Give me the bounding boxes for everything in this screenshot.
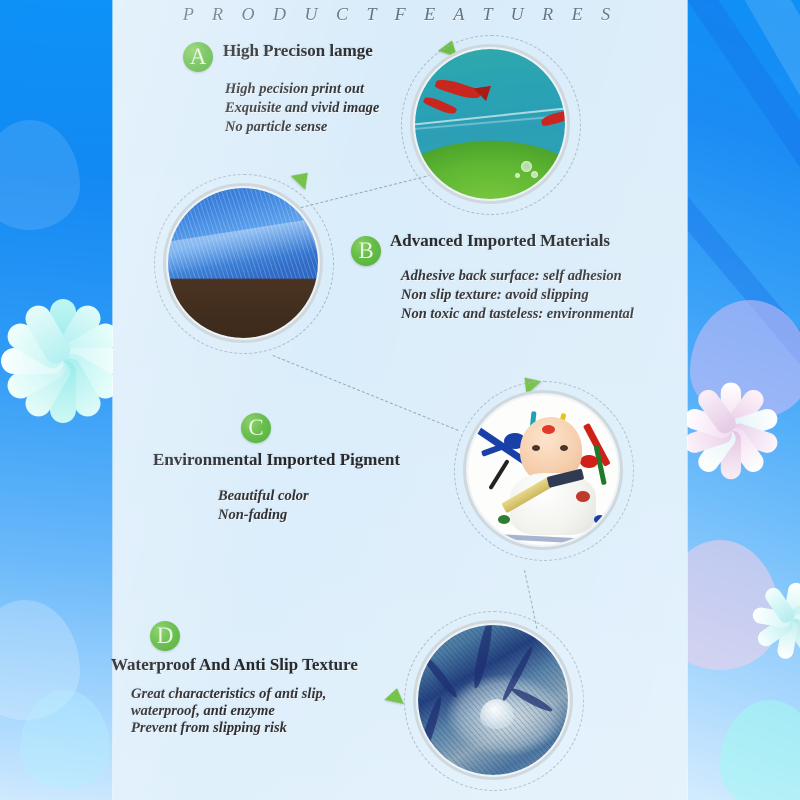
body-a-line-1: High pecision print out [225, 80, 364, 99]
badge-c: C [241, 413, 271, 443]
connector-b-to-c [273, 355, 459, 431]
decorative-blob-left-3 [0, 120, 80, 230]
photo-a-fish-print [410, 44, 570, 204]
product-features-poster: P R O D U C T F E A T U R E S A High Pre… [0, 0, 800, 800]
body-b-line-1: Adhesive back surface: self adhesion [401, 267, 622, 286]
arrow-to-photo-b [291, 166, 315, 190]
photo-a-image [415, 49, 565, 199]
photo-d-image [418, 625, 568, 775]
body-a-line-2: Exquisite and vivid image [225, 99, 379, 118]
decorative-flower-right-lower [790, 620, 791, 621]
blue-fabric-texture-photo [168, 188, 318, 338]
badge-d: D [150, 621, 180, 651]
body-a-line-3: No particle sense [225, 118, 327, 137]
decorative-flower-right-upper [730, 430, 731, 431]
heading-c: Environmental Imported Pigment [153, 450, 400, 470]
decorative-blob-left-2 [20, 690, 110, 790]
content-panel: P R O D U C T F E A T U R E S A High Pre… [113, 0, 687, 800]
body-b-line-2: Non slip texture: avoid slipping [401, 286, 589, 305]
background-right-strip [670, 0, 800, 800]
photo-c-baby-painting [463, 390, 623, 550]
body-d-line-3: Prevent from slipping risk [131, 719, 287, 738]
photo-b-image [168, 188, 318, 338]
heading-b: Advanced Imported Materials [390, 231, 610, 251]
baby-painting-photo [468, 395, 618, 545]
body-c-line-2: Non-fading [218, 506, 287, 525]
water-droplet [480, 699, 514, 729]
page-title: P R O D U C T F E A T U R E S [113, 4, 687, 25]
fish-shape-2 [423, 94, 458, 116]
badge-a: A [183, 42, 213, 72]
badge-b: B [351, 236, 381, 266]
fish-shape-3 [540, 109, 565, 126]
decorative-blob-right-3 [720, 700, 800, 800]
background-left-strip [0, 0, 130, 800]
fabric-highlight [168, 216, 318, 277]
heading-a: High Precison lamge [223, 41, 373, 61]
photo-d-water-texture [413, 620, 573, 780]
body-b-line-3: Non toxic and tasteless: environmental [401, 305, 634, 324]
heading-d: Waterproof And Anti Slip Texture [111, 655, 358, 675]
body-c-line-1: Beautiful color [218, 487, 309, 506]
decorative-flower-left [62, 360, 63, 361]
water-droplet-texture-photo [418, 625, 568, 775]
photo-b-fabric-texture [163, 183, 323, 343]
fish-print-photo [415, 49, 565, 199]
photo-c-image [468, 395, 618, 545]
